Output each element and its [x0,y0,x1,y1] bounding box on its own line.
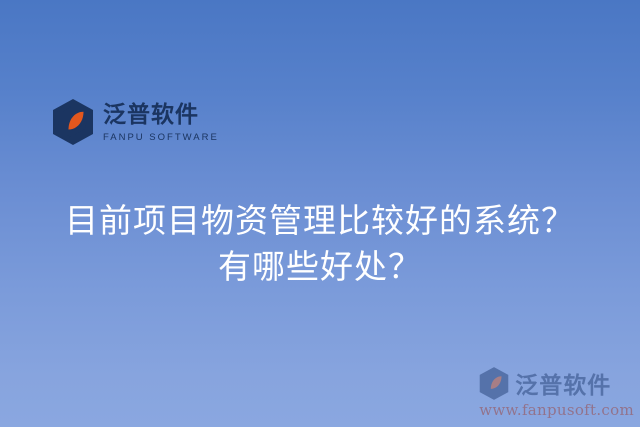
brand-logo-wordmark: 泛普软件 FANPU SOFTWARE [103,101,219,142]
promotional-banner: 泛普软件 FANPU SOFTWARE 目前项目物资管理比较好的系统？ 有哪些好… [0,0,640,427]
brand-name-en: FANPU SOFTWARE [103,132,219,143]
watermark-brand-name-cn: 泛普软件 [515,366,611,400]
watermark-fanpu-hexagon-swoosh-logo-icon [479,367,509,400]
watermark-logo-row: 泛普软件 [479,366,634,400]
fanpu-hexagon-swoosh-logo-icon [52,99,94,145]
watermark: 泛普软件 www.fanpusoft.com [479,366,634,419]
watermark-url: www.fanpusoft.com [479,401,634,419]
headline-line-2: 有哪些好处？ [0,244,640,290]
brand-name-cn: 泛普软件 [103,103,219,127]
headline: 目前项目物资管理比较好的系统？ 有哪些好处？ [0,198,640,290]
headline-line-1: 目前项目物资管理比较好的系统？ [0,198,640,244]
brand-logo: 泛普软件 FANPU SOFTWARE [52,99,219,145]
